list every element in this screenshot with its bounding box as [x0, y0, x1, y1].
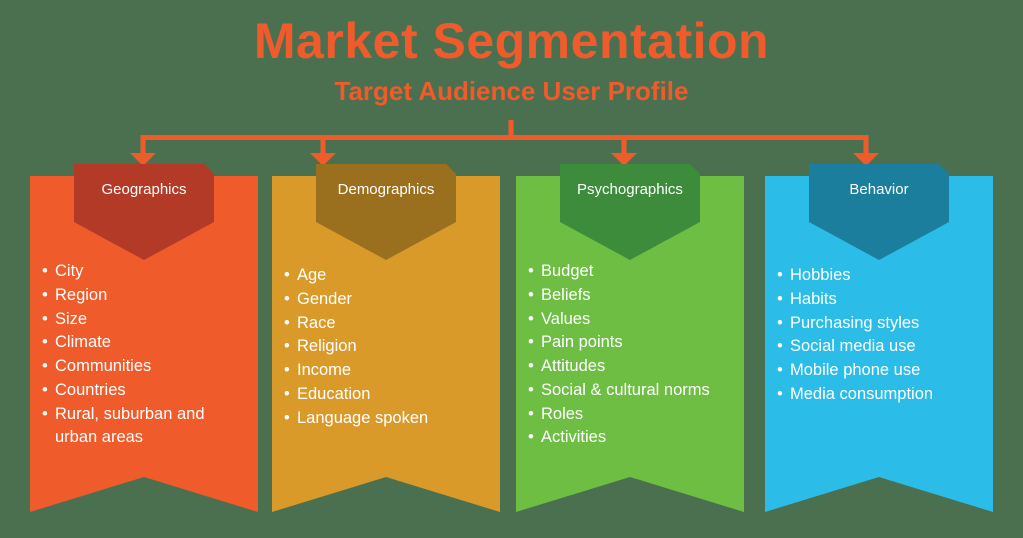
list-item: Beliefs [528, 284, 732, 307]
list-item: Habits [777, 288, 981, 311]
list-item: City [42, 260, 246, 283]
list-item: Media consumption [777, 383, 981, 406]
list-item: Size [42, 308, 246, 331]
list-item: Communities [42, 355, 246, 378]
segment-card-behavior[interactable]: BehaviorHobbiesHabitsPurchasing stylesSo… [765, 176, 993, 512]
list-item: Social media use [777, 335, 981, 358]
card-item-list: CityRegionSizeClimateCommunitiesCountrie… [42, 260, 246, 450]
list-item: Attitudes [528, 355, 732, 378]
list-item: Mobile phone use [777, 359, 981, 382]
card-tab [809, 164, 949, 260]
connector-arrows [0, 0, 1023, 180]
list-item: Climate [42, 331, 246, 354]
list-item: Race [284, 312, 488, 335]
segment-card-demographics[interactable]: DemographicsAgeGenderRaceReligionIncomeE… [272, 176, 500, 512]
list-item: Hobbies [777, 264, 981, 287]
list-item: Countries [42, 379, 246, 402]
list-item: Budget [528, 260, 732, 283]
list-item: Pain points [528, 331, 732, 354]
card-tab [74, 164, 214, 260]
card-item-list: BudgetBeliefsValuesPain pointsAttitudesS… [528, 260, 732, 450]
list-item: Roles [528, 403, 732, 426]
list-item: Income [284, 359, 488, 382]
list-item: Values [528, 308, 732, 331]
segment-card-psychographics[interactable]: PsychographicsBudgetBeliefsValuesPain po… [516, 176, 744, 512]
list-item: Social & cultural norms [528, 379, 732, 402]
list-item: Rural, suburban and urban areas [42, 403, 246, 450]
list-item: Age [284, 264, 488, 287]
list-item: Gender [284, 288, 488, 311]
card-item-list: HobbiesHabitsPurchasing stylesSocial med… [777, 264, 981, 407]
list-item: Region [42, 284, 246, 307]
card-tab [316, 164, 456, 260]
segment-card-geographics[interactable]: GeographicsCityRegionSizeClimateCommunit… [30, 176, 258, 512]
list-item: Activities [528, 426, 732, 449]
list-item: Education [284, 383, 488, 406]
list-item: Language spoken [284, 407, 488, 430]
card-item-list: AgeGenderRaceReligionIncomeEducationLang… [284, 264, 488, 430]
card-tab [560, 164, 700, 260]
list-item: Purchasing styles [777, 312, 981, 335]
market-segmentation-infographic: Market Segmentation Target Audience User… [0, 0, 1023, 538]
list-item: Religion [284, 335, 488, 358]
